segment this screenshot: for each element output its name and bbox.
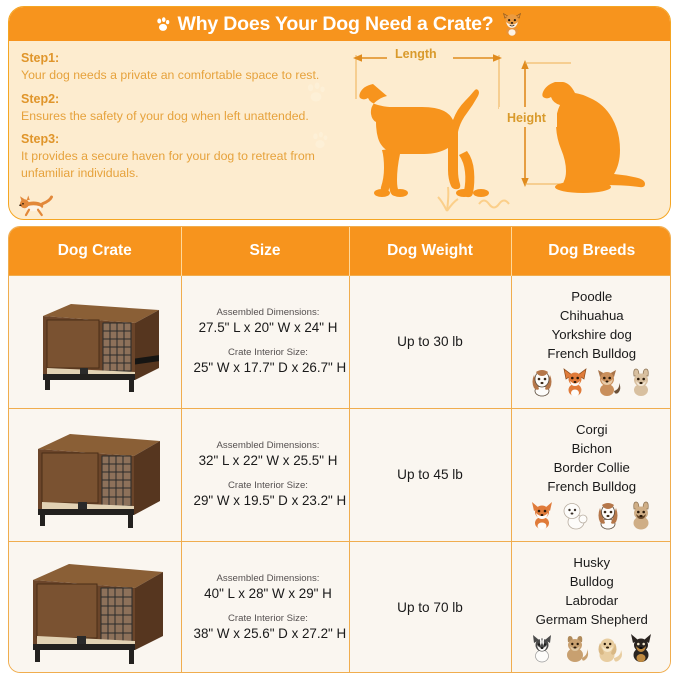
crate-size-table: Dog Crate Size Dog Weight Dog Breeds: [8, 226, 671, 673]
assembled-dimensions-label: Assembled Dimensions:: [194, 306, 343, 319]
step-text: It provides a secure haven for your dog …: [21, 148, 341, 181]
assembled-dimensions-label: Assembled Dimensions:: [194, 439, 343, 452]
interior-size-value: 29" W x 19.5" D x 23.2" H: [194, 492, 343, 510]
breeds-cell: Poodle Chihuahua Yorkshire dog French Bu…: [511, 275, 671, 408]
table-row: Assembled Dimensions: 40" L x 28" W x 29…: [9, 541, 671, 673]
crate-image-cell: [9, 275, 181, 408]
interior-size-label: Crate Interior Size:: [194, 612, 343, 625]
hero-title-bar: Why Does Your Dog Need a Crate?: [9, 7, 670, 41]
chihuahua-icon: [561, 367, 589, 397]
infographic-page: Why Does Your Dog Need a Crate?: [0, 0, 679, 679]
breed-name: Chihuahua: [512, 306, 672, 325]
hero-body: Step1: Your dog needs a private an comfo…: [9, 41, 670, 219]
breed-name: Germam Shepherd: [512, 610, 672, 629]
breed-name: Husky: [512, 553, 672, 572]
crate-image-cell: [9, 408, 181, 541]
steps-list: Step1: Your dog needs a private an comfo…: [21, 50, 341, 188]
small-wooden-dog-crate-image: [25, 290, 165, 394]
squiggle-decoration-icon: [479, 201, 509, 208]
interior-size-label: Crate Interior Size:: [194, 346, 343, 359]
height-label: Height: [503, 111, 550, 125]
column-header-dog-breeds: Dog Breeds: [511, 227, 671, 275]
french-bulldog-icon: [627, 367, 655, 397]
labrador-icon: [594, 633, 622, 663]
table-row: Assembled Dimensions: 27.5" L x 20" W x …: [9, 275, 671, 408]
poodle-icon: [528, 367, 556, 397]
assembled-dimensions-value: 27.5" L x 20" W x 24" H: [194, 319, 343, 337]
german-shepherd-icon: [627, 633, 655, 663]
breed-name: Poodle: [512, 287, 672, 306]
breed-name: French Bulldog: [512, 344, 672, 363]
dog-size-diagram: Length Height: [339, 41, 669, 219]
medium-wooden-dog-crate-image: [22, 421, 167, 529]
running-corgi-icon: [17, 195, 53, 217]
sitting-dog-silhouette-icon: [542, 82, 645, 193]
assembled-dimensions-label: Assembled Dimensions:: [194, 572, 343, 585]
breed-name: Bulldog: [512, 572, 672, 591]
large-wooden-dog-crate-image: [19, 552, 171, 664]
corgi-icon: [528, 500, 556, 530]
grass-icon: [438, 187, 458, 211]
border-collie-icon: [594, 500, 622, 530]
french-bulldog-icon: [627, 500, 655, 530]
breeds-cell: Corgi Bichon Border Collie French Bulldo…: [511, 408, 671, 541]
step-label: Step2:: [21, 91, 341, 108]
step-label: Step3:: [21, 131, 341, 148]
breed-icon-strip: [512, 500, 672, 530]
breed-name: Labrodar: [512, 591, 672, 610]
breed-name: Yorkshire dog: [512, 325, 672, 344]
crate-image-cell: [9, 541, 181, 673]
interior-size-label: Crate Interior Size:: [194, 479, 343, 492]
breed-icon-strip: [512, 367, 672, 397]
weight-cell: Up to 70 lb: [349, 541, 511, 673]
length-label: Length: [391, 47, 441, 61]
table-header-row: Dog Crate Size Dog Weight Dog Breeds: [9, 227, 671, 275]
step-item: Step3: It provides a secure haven for yo…: [21, 131, 341, 181]
breed-name: French Bulldog: [512, 477, 672, 496]
assembled-dimensions-value: 32" L x 22" W x 25.5" H: [194, 452, 343, 470]
size-cell: Assembled Dimensions: 40" L x 28" W x 29…: [181, 541, 349, 673]
interior-size-value: 38" W x 25.6" D x 27.2" H: [194, 625, 343, 643]
breed-name: Corgi: [512, 420, 672, 439]
step-item: Step2: Ensures the safety of your dog wh…: [21, 91, 341, 125]
step-label: Step1:: [21, 50, 341, 67]
step-text: Ensures the safety of your dog when left…: [21, 108, 341, 125]
breeds-cell: Husky Bulldog Labrodar Germam Shepherd: [511, 541, 671, 673]
column-header-dog-weight: Dog Weight: [349, 227, 511, 275]
weight-cell: Up to 30 lb: [349, 275, 511, 408]
size-cell: Assembled Dimensions: 32" L x 22" W x 25…: [181, 408, 349, 541]
column-header-dog-crate: Dog Crate: [9, 227, 181, 275]
interior-size-value: 25" W x 17.7" D x 26.7" H: [194, 359, 343, 377]
step-text: Your dog needs a private an comfortable …: [21, 67, 341, 84]
size-cell: Assembled Dimensions: 27.5" L x 20" W x …: [181, 275, 349, 408]
table-row: Assembled Dimensions: 32" L x 22" W x 25…: [9, 408, 671, 541]
breed-name: Border Collie: [512, 458, 672, 477]
shiba-dog-icon: [499, 11, 525, 37]
standing-dog-silhouette-icon: [359, 84, 489, 197]
breed-icon-strip: [512, 633, 672, 663]
bulldog-icon: [561, 633, 589, 663]
husky-icon: [528, 633, 556, 663]
bichon-icon: [561, 500, 589, 530]
weight-cell: Up to 45 lb: [349, 408, 511, 541]
column-header-size: Size: [181, 227, 349, 275]
assembled-dimensions-value: 40" L x 28" W x 29" H: [194, 585, 343, 603]
hero-panel: Why Does Your Dog Need a Crate?: [8, 6, 671, 220]
yorkshire-icon: [594, 367, 622, 397]
step-item: Step1: Your dog needs a private an comfo…: [21, 50, 341, 84]
paw-icon: [154, 15, 172, 33]
page-title: Why Does Your Dog Need a Crate?: [178, 13, 494, 36]
breed-name: Bichon: [512, 439, 672, 458]
